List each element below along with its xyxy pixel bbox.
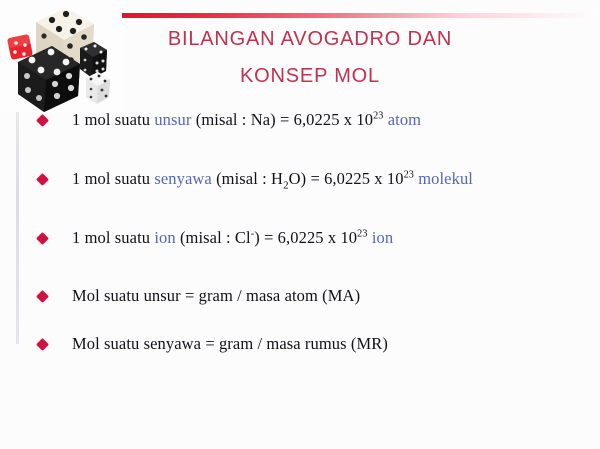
list-item: Mol suatu senyawa = gram / masa rumus (M… bbox=[0, 328, 600, 376]
bullet-text-4: Mol suatu unsur = gram / masa atom (MA) bbox=[72, 286, 360, 306]
list-item: 1 mol suatu senyawa (misal : H2O) = 6,02… bbox=[0, 163, 600, 222]
slide-title: BILANGAN AVOGADRO DAN KONSEP MOL bbox=[110, 26, 510, 89]
list-item: 1 mol suatu unsur (misal : Na) = 6,0225 … bbox=[0, 104, 600, 163]
title-line-1: BILANGAN AVOGADRO DAN bbox=[110, 26, 510, 52]
top-red-rule bbox=[104, 13, 596, 18]
list-item: 1 mol suatu ion (misal : Cl-) = 6,0225 x… bbox=[0, 222, 600, 280]
bullet-list: 1 mol suatu unsur (misal : Na) = 6,0225 … bbox=[0, 104, 600, 376]
diamond-bullet-icon bbox=[36, 173, 49, 186]
bullet-text-3: 1 mol suatu ion (misal : Cl-) = 6,0225 x… bbox=[72, 228, 393, 248]
diamond-bullet-icon bbox=[36, 290, 49, 303]
diamond-bullet-icon bbox=[36, 114, 49, 127]
dice-photo bbox=[0, 0, 122, 112]
bullet-text-5: Mol suatu senyawa = gram / masa rumus (M… bbox=[72, 334, 388, 354]
bullet-text-2: 1 mol suatu senyawa (misal : H2O) = 6,02… bbox=[72, 169, 473, 189]
list-item: Mol suatu unsur = gram / masa atom (MA) bbox=[0, 280, 600, 328]
title-line-2: KONSEP MOL bbox=[110, 63, 510, 89]
small-red-die bbox=[7, 34, 33, 60]
diamond-bullet-icon bbox=[36, 232, 49, 245]
bullet-text-1: 1 mol suatu unsur (misal : Na) = 6,0225 … bbox=[72, 110, 421, 130]
diamond-bullet-icon bbox=[36, 338, 49, 351]
